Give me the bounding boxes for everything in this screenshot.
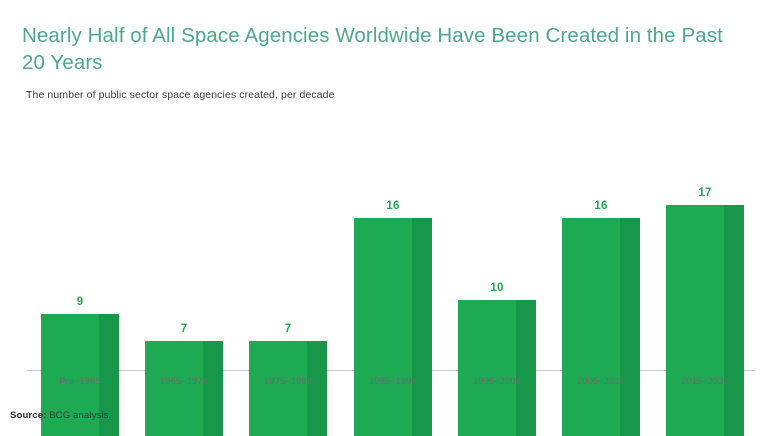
chart-page: Nearly Half of All Space Agencies Worldw…: [0, 0, 768, 436]
x-axis-category-label: 2015–2023: [650, 376, 760, 386]
bar[interactable]: [145, 341, 223, 436]
x-axis-category-label: 1985–1994: [338, 376, 448, 386]
source-text: BCG analysis.: [46, 410, 111, 421]
bar[interactable]: [249, 341, 327, 436]
bar-value-label: 17: [666, 187, 744, 199]
bar[interactable]: [666, 205, 744, 436]
bar-value-label: 10: [458, 282, 536, 294]
bar-shade: [412, 218, 432, 436]
bar-value-label: 16: [562, 200, 640, 212]
bar[interactable]: [354, 218, 432, 436]
bar-shade: [724, 205, 744, 436]
plot-area: 97716101617 Pre–19651965–19741975–198419…: [0, 0, 768, 436]
bar-value-label: 16: [354, 200, 432, 212]
bar-shade: [203, 341, 223, 436]
x-axis-category-label: Pre–1965: [25, 376, 135, 386]
bar-value-label: 7: [249, 323, 327, 335]
x-axis-category-label: 1995–2004: [442, 376, 552, 386]
bar[interactable]: [458, 300, 536, 436]
bar-shade: [307, 341, 327, 436]
x-axis-category-label: 1975–1984: [233, 376, 343, 386]
x-axis-category-label: 1965–1974: [129, 376, 239, 386]
source-label: Source:: [10, 410, 46, 421]
bar-value-label: 9: [41, 296, 119, 308]
bar-shade: [620, 218, 640, 436]
source-note: Source: BCG analysis.: [10, 410, 111, 421]
bar-value-label: 7: [145, 323, 223, 335]
bar-shade: [516, 300, 536, 436]
bar[interactable]: [562, 218, 640, 436]
x-axis-category-label: 2005–2014: [546, 376, 656, 386]
